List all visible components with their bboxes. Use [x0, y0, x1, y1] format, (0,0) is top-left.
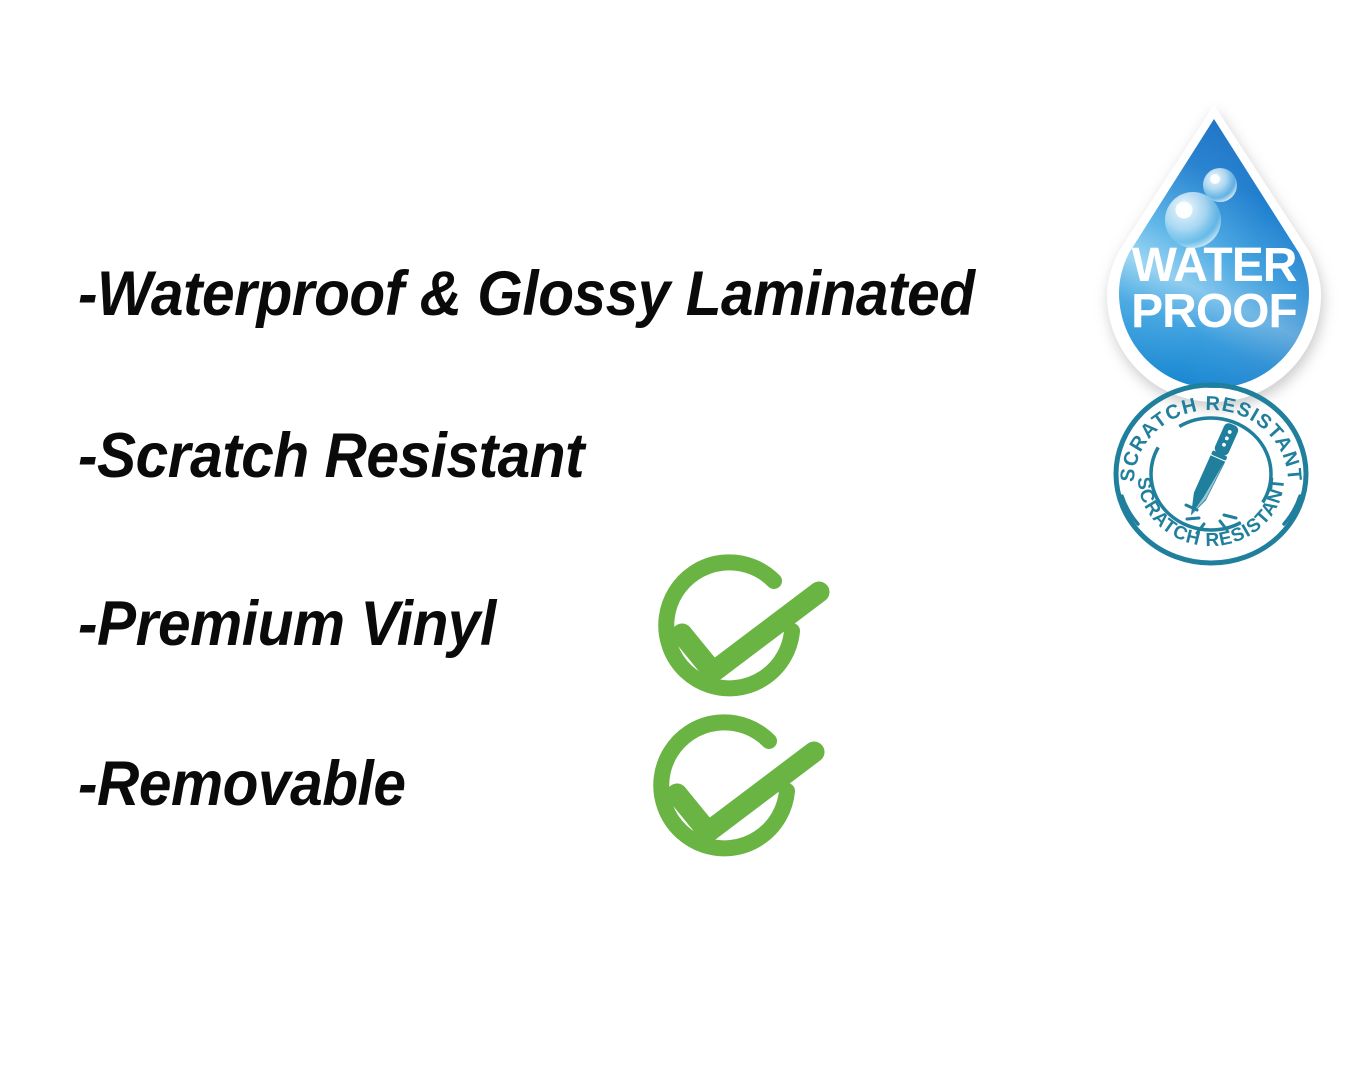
water-bubble-large-highlight	[1176, 202, 1193, 219]
feature-label: Premium Vinyl	[97, 588, 496, 660]
feature-item-premium-vinyl: -Premium Vinyl	[78, 588, 496, 660]
feature-label: Removable	[97, 748, 405, 820]
waterproof-label-line2: PROOF	[1131, 285, 1297, 338]
bullet-dash: -	[78, 588, 97, 660]
promo-feature-graphic: -Waterproof & Glossy Laminated -Scratch …	[0, 0, 1359, 1080]
bullet-dash: -	[78, 420, 97, 492]
knife-blade	[1185, 455, 1225, 519]
green-circle-check-icon-removable	[636, 716, 829, 876]
water-bubble-small-highlight	[1210, 174, 1220, 184]
feature-label: Scratch Resistant	[97, 420, 584, 492]
feature-label: Waterproof & Glossy Laminated	[97, 258, 974, 330]
knife-icon	[1185, 421, 1240, 533]
waterproof-droplet-icon: WATER PROOF	[1103, 103, 1325, 371]
feature-item-waterproof-glossy-laminated: -Waterproof & Glossy Laminated	[78, 258, 975, 330]
feature-item-removable: -Removable	[78, 748, 405, 820]
scratch-resistant-stamp-icon: SCRATCH RESISTANT SCRATCH RESISTANT	[1108, 378, 1314, 570]
bullet-dash: -	[78, 258, 97, 330]
bullet-dash: -	[78, 748, 97, 820]
waterproof-label: WATER PROOF	[1131, 239, 1297, 338]
green-circle-check-icon-premium-vinyl	[641, 556, 834, 716]
feature-item-scratch-resistant: -Scratch Resistant	[78, 420, 584, 492]
